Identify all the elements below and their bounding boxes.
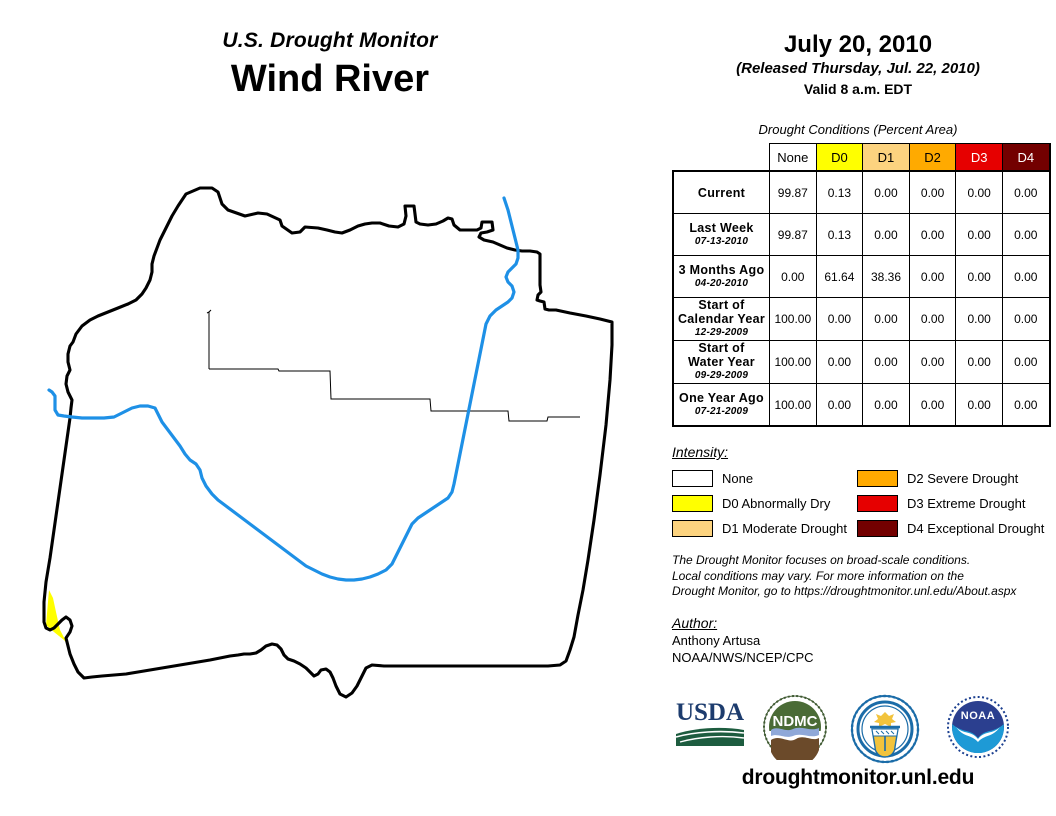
table-cell-none: 0.00 [770,256,817,298]
table-cell-d0: 0.00 [816,298,863,341]
svg-text:NDMC: NDMC [773,713,818,730]
table-row-label-date: 07-21-2009 [677,405,766,419]
col-head-d4: D4 [1002,144,1049,172]
table-cell-d2: 0.00 [909,298,956,341]
table-cell-d4: 0.00 [1002,341,1049,384]
table-row-label-title: 3 Months Ago [677,263,766,277]
table-cell-d3: 0.00 [956,298,1003,341]
legend-item: D2 Severe Drought [857,466,1052,491]
legend-label: None [722,471,753,486]
table-cell-d0: 61.64 [816,256,863,298]
commerce-seal-logo [850,694,920,764]
map-outer-boundary [44,188,612,697]
legend-swatch-icon [857,520,898,537]
col-head-d2: D2 [909,144,956,172]
table-row: Current99.870.130.000.000.000.00 [673,171,1050,214]
table-cell-d0: 0.13 [816,214,863,256]
disclaimer-line-1: The Drought Monitor focuses on broad-sca… [672,553,1052,569]
disclaimer-text: The Drought Monitor focuses on broad-sca… [672,553,1052,600]
table-cell-d3: 0.00 [956,341,1003,384]
table-row-label-title: Last Week [677,221,766,235]
site-url[interactable]: droughtmonitor.unl.edu [660,766,1056,790]
table-cell-none: 100.00 [770,384,817,427]
table-cell-none: 100.00 [770,341,817,384]
col-head-d0: D0 [816,144,863,172]
table-caption: Drought Conditions (Percent Area) [660,122,1056,138]
usda-logo: USDA [670,694,750,752]
table-row-label: Current [673,171,770,214]
table-row: 3 Months Ago04-20-20100.0061.6438.360.00… [673,256,1050,298]
table-row: One Year Ago07-21-2009100.000.000.000.00… [673,384,1050,427]
table-cell-d4: 0.00 [1002,171,1049,214]
released-date: (Released Thursday, Jul. 22, 2010) [660,59,1056,79]
svg-text:NOAA: NOAA [961,710,995,722]
drought-conditions-table: None D0 D1 D2 D3 D4 Current99.870.130.00… [672,143,1051,427]
legend-swatch-icon [672,520,713,537]
table-row-label: Start ofWater Year09-29-2009 [673,341,770,384]
table-cell-d1: 0.00 [863,214,910,256]
map-interior-boundary [207,310,580,421]
legend-label: D3 Extreme Drought [907,496,1026,511]
svg-text:USDA: USDA [676,699,744,726]
intensity-heading: Intensity: [672,443,1052,461]
table-row-label-date: 09-29-2009 [677,369,766,383]
table-cell-none: 99.87 [770,214,817,256]
table-row-label: Last Week07-13-2010 [673,214,770,256]
table-cell-d2: 0.00 [909,171,956,214]
table-cell-d2: 0.00 [909,214,956,256]
legend-label: D0 Abnormally Dry [722,496,830,511]
author-heading: Author: [672,614,1052,632]
col-head-none: None [770,144,817,172]
table-row-label: Start ofCalendar Year12-29-2009 [673,298,770,341]
logo-row: USDA NDMC [660,694,1056,764]
table-cell-d4: 0.00 [1002,384,1049,427]
legend-swatch-icon [857,470,898,487]
wind-river-path [49,198,518,580]
col-head-d1: D1 [863,144,910,172]
table-cell-d4: 0.00 [1002,256,1049,298]
table-cell-d2: 0.00 [909,341,956,384]
table-cell-d1: 0.00 [863,341,910,384]
table-row-label-title: Start ofCalendar Year [677,298,766,326]
legend-label: D4 Exceptional Drought [907,521,1044,536]
table-cell-d2: 0.00 [909,256,956,298]
page-title: Wind River [0,56,660,102]
table-row-label-title: Current [677,186,766,200]
noaa-logo: NOAA [942,694,1014,760]
author-name: Anthony Artusa [672,632,1052,649]
legend-swatch-icon [672,470,713,487]
info-panel: July 20, 2010 (Released Thursday, Jul. 2… [660,0,1056,816]
legend-swatch-icon [672,495,713,512]
table-cell-d1: 0.00 [863,171,910,214]
table-row: Start ofWater Year09-29-2009100.000.000.… [673,341,1050,384]
legend-item: D3 Extreme Drought [857,491,1052,516]
table-header-row: None D0 D1 D2 D3 D4 [673,144,1050,172]
author-block: Author: Anthony Artusa NOAA/NWS/NCEP/CPC [672,614,1052,666]
map-panel: U.S. Drought Monitor Wind River [0,0,660,816]
valid-time: Valid 8 a.m. EDT [660,80,1056,99]
table-cell-d3: 0.00 [956,214,1003,256]
drought-map-graphic [0,120,660,720]
intensity-legend: Intensity: NoneD2 Severe DroughtD0 Abnor… [672,443,1052,541]
author-affiliation: NOAA/NWS/NCEP/CPC [672,649,1052,666]
table-row-label-date: 12-29-2009 [677,326,766,340]
legend-item: D1 Moderate Drought [672,516,857,541]
table-cell-d4: 0.00 [1002,298,1049,341]
date-block: July 20, 2010 (Released Thursday, Jul. 2… [660,30,1056,99]
ndmc-logo: NDMC [762,694,828,760]
table-cell-d3: 0.00 [956,256,1003,298]
table-corner-cell [673,144,770,172]
table-row: Start ofCalendar Year12-29-2009100.000.0… [673,298,1050,341]
disclaimer-line-2: Local conditions may vary. For more info… [672,569,1052,585]
table-cell-none: 99.87 [770,171,817,214]
legend-item: None [672,466,857,491]
table-cell-d3: 0.00 [956,384,1003,427]
table-cell-none: 100.00 [770,298,817,341]
table-row-label-date: 07-13-2010 [677,235,766,249]
table-cell-d1: 0.00 [863,298,910,341]
legend-swatch-icon [857,495,898,512]
legend-label: D1 Moderate Drought [722,521,847,536]
disclaimer-line-3: Drought Monitor, go to https://droughtmo… [672,584,1052,600]
table-row-label-title: One Year Ago [677,391,766,405]
table-row-label: One Year Ago07-21-2009 [673,384,770,427]
table-cell-d0: 0.00 [816,384,863,427]
legend-item: D0 Abnormally Dry [672,491,857,516]
table-row-label-title: Start ofWater Year [677,341,766,369]
drought-monitor-supertitle: U.S. Drought Monitor [0,28,660,54]
legend-item: D4 Exceptional Drought [857,516,1052,541]
legend-label: D2 Severe Drought [907,471,1018,486]
col-head-d3: D3 [956,144,1003,172]
table-row-label-date: 04-20-2010 [677,277,766,291]
table-cell-d1: 0.00 [863,384,910,427]
table-row-label: 3 Months Ago04-20-2010 [673,256,770,298]
table-cell-d1: 38.36 [863,256,910,298]
table-cell-d0: 0.13 [816,171,863,214]
table-cell-d3: 0.00 [956,171,1003,214]
table-cell-d2: 0.00 [909,384,956,427]
valid-date: July 20, 2010 [660,30,1056,59]
table-row: Last Week07-13-201099.870.130.000.000.00… [673,214,1050,256]
table-cell-d0: 0.00 [816,341,863,384]
table-cell-d4: 0.00 [1002,214,1049,256]
map-title-block: U.S. Drought Monitor Wind River [0,28,660,102]
